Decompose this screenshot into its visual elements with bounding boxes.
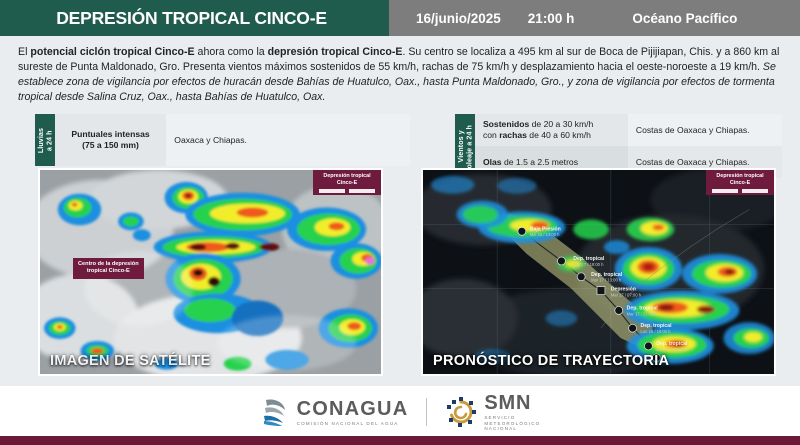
- rain-intensity-cell: Puntuales intensas (75 a 150 mm): [55, 114, 167, 166]
- satellite-badge-name: Cinco-E: [319, 180, 375, 187]
- wind-speed-cell: Sostenidos de 20 a 30 km/h con rachas de…: [475, 114, 628, 146]
- rain-intensity-range: (75 a 150 mm): [82, 140, 139, 150]
- page-title: DEPRESIÓN TROPICAL CINCO-E: [56, 8, 327, 29]
- track-badge-title: Depresión tropical: [712, 173, 768, 180]
- footer-accent-bar: [0, 436, 800, 445]
- bulletin-header: DEPRESIÓN TROPICAL CINCO-E 16/junio/2025…: [0, 0, 800, 36]
- wind-gust-value: de 40 a 60 km/h: [527, 130, 591, 140]
- smn-logo-group: SMN SERVICIO METEOROLÓGICO NACIONAL: [445, 393, 540, 432]
- wave-label: Olas: [483, 157, 502, 167]
- rain-table: Puntuales intensas (75 a 150 mm) Oaxaca …: [55, 114, 410, 166]
- satellite-badge-title: Depresión tropical: [319, 173, 375, 180]
- track-badge-scale: [712, 189, 768, 193]
- table-row: Sostenidos de 20 a 30 km/h con rachas de…: [475, 114, 782, 146]
- wind-regions-cell: Costas de Oaxaca y Chiapas.: [628, 114, 782, 146]
- rain-side-label: Lluvias a 24 h: [35, 114, 55, 166]
- scale-bar-left: [712, 189, 738, 193]
- track-badge-name: Cinco-E: [712, 180, 768, 187]
- storm-center-label: Centro de la depresión tropical Cinco-E: [73, 258, 144, 279]
- ocean-basin-label: Océano Pacífico: [632, 11, 737, 26]
- agency-logos: CONAGUA COMISIÓN NACIONAL DEL AGUA: [260, 393, 541, 432]
- bulletin-time: 21:00 h: [528, 11, 575, 26]
- track-panel-caption: PRONÓSTICO DE TRAYECTORIA: [433, 353, 669, 369]
- svg-text:Mar 17 / 13:00 h: Mar 17 / 13:00 h: [591, 278, 622, 283]
- table-row: Puntuales intensas (75 a 150 mm) Oaxaca …: [55, 114, 410, 166]
- conagua-logo-text: CONAGUA COMISIÓN NACIONAL DEL AGUA: [297, 399, 409, 427]
- conagua-subtitle: COMISIÓN NACIONAL DEL AGUA: [297, 421, 409, 427]
- scale-bar-right: [349, 189, 375, 193]
- svg-text:Lun 16 / 21:00 h: Lun 16 / 21:00 h: [656, 347, 687, 352]
- wind-sustained-label: Sostenidos: [483, 119, 529, 129]
- track-badge: Depresión tropical Cinco-E: [706, 170, 774, 195]
- svg-text:Mar 17 / 19:00 h: Mar 17 / 19:00 h: [573, 262, 604, 267]
- header-meta-block: 16/junio/2025 21:00 h Océano Pacífico: [389, 0, 800, 36]
- rain-table-block: Lluvias a 24 h Puntuales intensas (75 a …: [35, 114, 410, 166]
- rain-side-label-text: Lluvias a 24 h: [37, 128, 54, 153]
- satellite-badge: Depresión tropical Cinco-E: [313, 170, 381, 195]
- satellite-badge-scale: [319, 189, 375, 193]
- svg-text:Lun 16 / 19:00 h: Lun 16 / 19:00 h: [641, 329, 672, 334]
- svg-text:Mié 18 / 13:00 h: Mié 18 / 13:00 h: [530, 232, 560, 237]
- bulletin-date: 16/junio/2025: [416, 11, 501, 26]
- rain-intensity-label: Puntuales intensas: [71, 129, 149, 139]
- image-panels: Depresión tropical Cinco-E Centro de la …: [0, 168, 800, 380]
- conagua-logo-group: CONAGUA COMISIÓN NACIONAL DEL AGUA: [260, 396, 409, 428]
- smn-subtitle: SERVICIO METEOROLÓGICO NACIONAL: [484, 415, 540, 432]
- wind-gust-prefix: con: [483, 130, 499, 140]
- cyclone-bulletin: DEPRESIÓN TROPICAL CINCO-E 16/junio/2025…: [0, 0, 800, 445]
- summary-bold-1: potencial ciclón tropical Cinco-E: [30, 46, 194, 58]
- smn-spiral-icon: [445, 396, 477, 428]
- satellite-image-panel[interactable]: Depresión tropical Cinco-E Centro de la …: [38, 168, 383, 376]
- wave-value: de 1.5 a 2.5 metros: [502, 157, 578, 167]
- logo-divider: [426, 398, 427, 426]
- satellite-panel-caption: IMAGEN DE SATÉLITE: [50, 353, 211, 369]
- conagua-eagle-icon: [260, 396, 290, 428]
- scale-bar-right: [742, 189, 768, 193]
- wind-sustained-value: de 20 a 30 km/h: [529, 119, 593, 129]
- wind-gust-label: rachas: [499, 130, 527, 140]
- summary-bold-2: depresión tropical Cinco-E: [268, 46, 403, 58]
- wind-side-label-text: Vientos y oleaje a 24 h: [457, 125, 474, 169]
- svg-text:Mar 17 / 07:00 h: Mar 17 / 07:00 h: [611, 293, 642, 298]
- summary-part-1: El: [18, 46, 30, 58]
- rain-regions-cell: Oaxaca y Chiapas.: [166, 114, 410, 166]
- summary-part-2: ahora como la: [195, 46, 268, 58]
- bulletin-footer: CONAGUA COMISIÓN NACIONAL DEL AGUA: [0, 386, 800, 445]
- smn-logo-text: SMN SERVICIO METEOROLÓGICO NACIONAL: [484, 393, 540, 432]
- smn-name: SMN: [484, 393, 540, 413]
- svg-text:Mar 17 / 01:00 h: Mar 17 / 01:00 h: [627, 311, 658, 316]
- header-title-block: DEPRESIÓN TROPICAL CINCO-E: [0, 0, 389, 36]
- summary-paragraph: El potencial ciclón tropical Cinco-E aho…: [18, 45, 782, 105]
- track-forecast-map: Baja Presión Dep. tropical Dep. tropical…: [423, 170, 774, 376]
- scale-bar-left: [319, 189, 345, 193]
- conagua-name: CONAGUA: [297, 399, 409, 419]
- track-forecast-panel[interactable]: Baja Presión Dep. tropical Dep. tropical…: [421, 168, 776, 376]
